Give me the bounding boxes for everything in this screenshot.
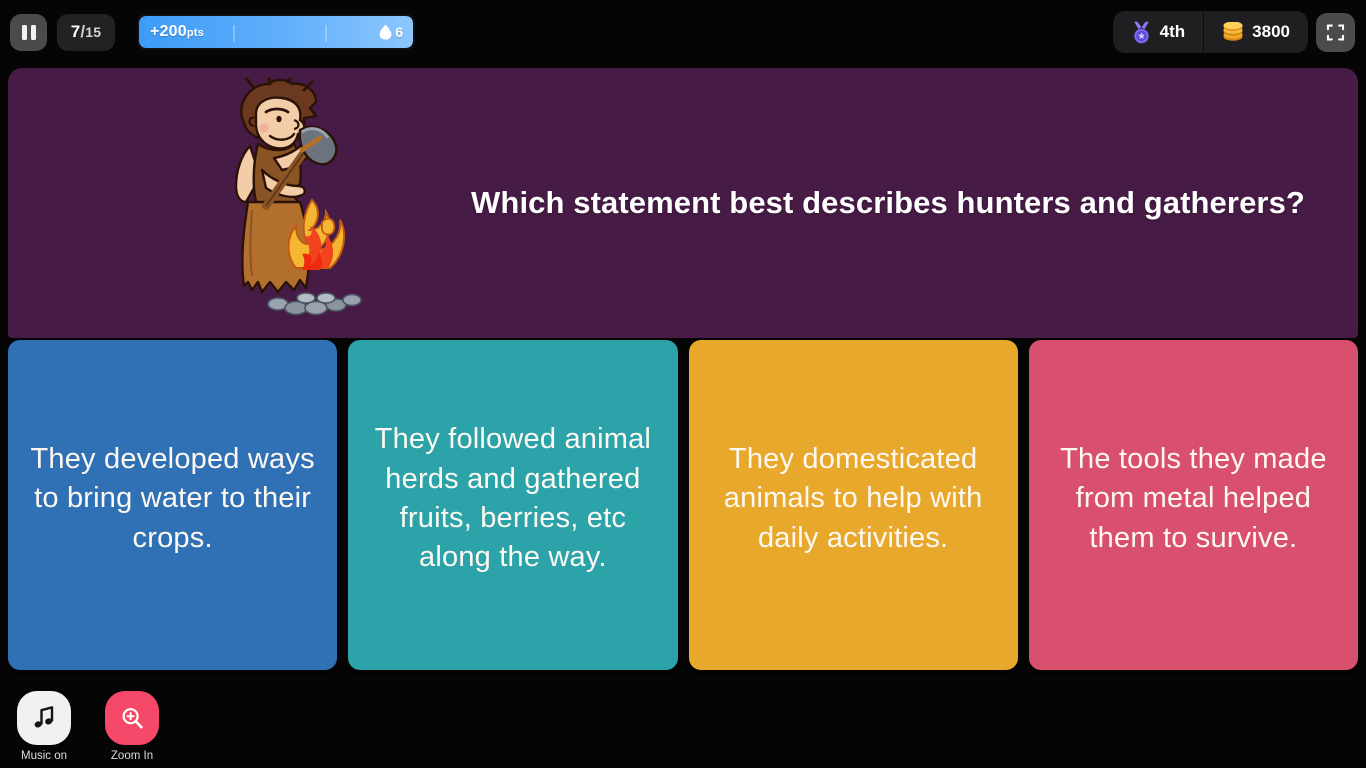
caveman-with-axe-and-campfire-illustration <box>204 78 384 328</box>
music-toggle-button[interactable]: Music on <box>12 691 76 762</box>
answer-option-3-text: They domesticated animals to help with d… <box>707 440 1000 558</box>
top-bar: 7/15 +200pts 6 <box>0 0 1366 64</box>
music-note-icon <box>32 705 56 731</box>
answer-option-2-text: They followed animal herds and gathered … <box>366 420 659 578</box>
fullscreen-button[interactable] <box>1316 13 1355 52</box>
answer-option-1-text: They developed ways to bring water to th… <box>26 440 319 558</box>
stats-group: 4th 3800 <box>1113 11 1308 53</box>
coins-value: 3800 <box>1252 22 1290 42</box>
top-bar-right-group: 4th 3800 <box>1113 11 1366 53</box>
rank-value: 4th <box>1160 22 1186 42</box>
streak-count: 6 <box>395 24 403 40</box>
question-total: 15 <box>85 24 101 40</box>
zoom-in-label: Zoom In <box>111 750 153 762</box>
answer-option-1[interactable]: They developed ways to bring water to th… <box>8 340 337 670</box>
coin-stack-icon <box>1222 22 1244 42</box>
rank-stat: 4th <box>1113 11 1204 53</box>
zoom-button-circle <box>105 691 159 745</box>
fullscreen-icon <box>1326 23 1345 42</box>
pause-icon <box>22 25 27 40</box>
points-earned-label: +200pts <box>150 23 204 41</box>
question-text: Which statement best describes hunters a… <box>438 183 1338 223</box>
answer-option-4-text: The tools they made from metal helped th… <box>1047 440 1340 558</box>
answer-option-2[interactable]: They followed animal herds and gathered … <box>348 340 677 670</box>
progress-bar: +200pts 6 <box>137 14 415 50</box>
music-toggle-label: Music on <box>21 750 67 762</box>
magnifier-plus-icon <box>120 706 145 731</box>
footer-controls: Music on Zoom In <box>12 691 164 762</box>
pause-icon-bar-2 <box>31 25 36 40</box>
points-unit: pts <box>187 27 204 39</box>
top-bar-left-group: 7/15 +200pts 6 <box>0 14 415 51</box>
medal-icon <box>1131 21 1152 44</box>
music-button-circle <box>17 691 71 745</box>
coins-stat: 3800 <box>1203 11 1308 53</box>
question-current: 7 <box>71 22 81 42</box>
pause-button[interactable] <box>10 14 47 51</box>
zoom-in-button[interactable]: Zoom In <box>100 691 164 762</box>
answer-option-3[interactable]: They domesticated animals to help with d… <box>689 340 1018 670</box>
flame-drop-icon <box>379 24 392 40</box>
streak-indicator: 6 <box>379 24 403 40</box>
quiz-game-screen: 7/15 +200pts 6 <box>0 0 1366 768</box>
question-counter: 7/15 <box>57 14 115 51</box>
answer-options-row: They developed ways to bring water to th… <box>8 340 1358 670</box>
points-value: +200 <box>150 23 187 40</box>
answer-option-4[interactable]: The tools they made from metal helped th… <box>1029 340 1358 670</box>
question-panel: Which statement best describes hunters a… <box>8 68 1358 338</box>
